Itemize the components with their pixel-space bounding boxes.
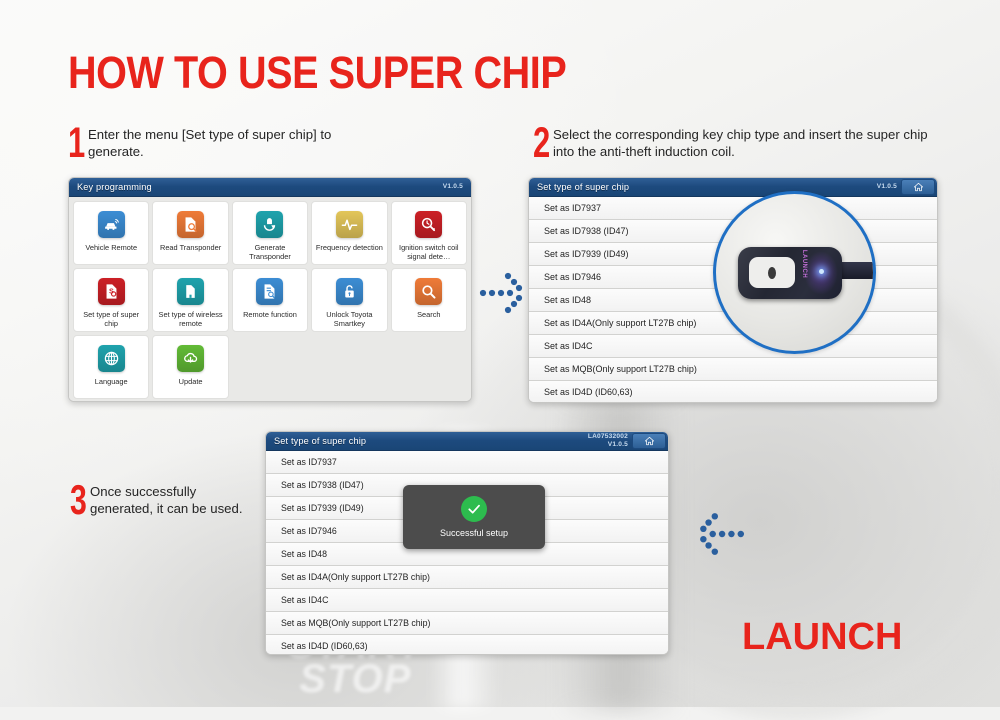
check-glyph xyxy=(466,501,482,517)
menu-item-label: Set type of wireless remote xyxy=(153,310,227,328)
menu-empty-slot xyxy=(391,335,467,399)
menu-empty-slot xyxy=(232,335,308,399)
anti-theft-induction-coil-photo: LAUNCH xyxy=(713,191,876,354)
list-item-label: Set as ID48 xyxy=(281,549,327,559)
menu-item-label: Unlock Toyota Smartkey xyxy=(312,310,386,328)
list-item-label: Set as ID7937 xyxy=(544,203,601,213)
step-1-number: 1 xyxy=(68,126,82,160)
tablet2-title: Set type of super chip xyxy=(537,182,629,192)
menu-item-wireless-remote[interactable]: Set type of wireless remote xyxy=(152,268,228,332)
list-item-label: Set as ID7939 (ID49) xyxy=(544,249,629,259)
tablet3-version-block: LA07532002 V1.0.5 xyxy=(588,433,628,449)
tablet3-home-button[interactable] xyxy=(632,433,666,449)
search-icon xyxy=(415,278,442,305)
step-2: 2 Select the corresponding key chip type… xyxy=(533,126,953,160)
coil-brand-label: LAUNCH xyxy=(801,250,807,278)
menu-item-super-chip[interactable]: S Set type of super chip xyxy=(73,268,149,332)
arrow-step2-to-step3 xyxy=(694,508,746,560)
list-item-label: Set as ID4D (ID60,63) xyxy=(544,387,633,397)
list-item[interactable]: Set as ID7937 xyxy=(529,197,937,220)
menu-item-label: Ignition switch coil signal dete… xyxy=(392,243,466,261)
list-item[interactable]: Set as ID7937 xyxy=(266,451,668,474)
list-item-label: Set as MQB(Only support LT27B chip) xyxy=(281,618,430,628)
super-chip-icon: S xyxy=(98,278,125,305)
menu-item-generate-transponder[interactable]: Generate Transponder xyxy=(232,201,308,265)
success-check-icon xyxy=(461,496,487,522)
list-item[interactable]: Set as ID4C xyxy=(529,335,937,358)
step-2-text: Select the corresponding key chip type a… xyxy=(553,126,949,160)
list-item-label: Set as ID48 xyxy=(544,295,591,305)
list-item-label: Set as ID4A(Only support LT27B chip) xyxy=(544,318,696,328)
menu-item-label: Language xyxy=(93,377,130,386)
arrow-step1-to-step2 xyxy=(478,268,528,318)
list-item[interactable]: Set as MQB(Only support LT27B chip) xyxy=(529,358,937,381)
remote-function-icon xyxy=(256,278,283,305)
tablet3-titlebar: Set type of super chip LA07532002 V1.0.5 xyxy=(266,432,668,451)
list-item-label: Set as ID4A(Only support LT27B chip) xyxy=(281,572,430,582)
tablet3-title: Set type of super chip xyxy=(274,436,366,446)
success-message: Successful setup xyxy=(440,528,508,538)
page-title: HOW TO USE SUPER CHIP xyxy=(68,47,566,99)
list-item-label: Set as MQB(Only support LT27B chip) xyxy=(544,364,697,374)
step-2-number: 2 xyxy=(533,126,547,160)
home-icon xyxy=(913,182,924,192)
tablet1-title: Key programming xyxy=(77,182,152,192)
car-remote-icon xyxy=(98,211,125,238)
tablet-super-chip-success: Set type of super chip LA07532002 V1.0.5… xyxy=(265,431,669,655)
list-item[interactable]: Set as ID4C xyxy=(266,589,668,612)
coil-device-body: LAUNCH xyxy=(738,247,842,299)
list-item[interactable]: Set as ID4D (ID60,63) xyxy=(529,381,937,403)
menu-item-label: Remote function xyxy=(241,310,299,319)
menu-empty-slot xyxy=(311,335,387,399)
tablet3-version: V1.0.5 xyxy=(588,441,628,449)
tablet-key-programming: Key programming V1.0.5 Vehicle Remote Re… xyxy=(68,177,472,402)
tablet3-serial: LA07532002 xyxy=(588,433,628,441)
launch-logo: LAUNCH xyxy=(742,616,902,659)
list-item-label: Set as ID7937 xyxy=(281,457,337,467)
step-3: 3 Once successfully generated, it can be… xyxy=(70,483,270,517)
waveform-icon xyxy=(336,211,363,238)
step-3-text: Once successfully generated, it can be u… xyxy=(90,483,250,517)
list-item-label: Set as ID7946 xyxy=(281,526,337,536)
read-transponder-icon xyxy=(177,211,204,238)
menu-item-car-remote[interactable]: Vehicle Remote xyxy=(73,201,149,265)
menu-item-remote-function[interactable]: Remote function xyxy=(232,268,308,332)
list-item-label: Set as ID7946 xyxy=(544,272,601,282)
list-item[interactable]: Set as ID4A(Only support LT27B chip) xyxy=(266,566,668,589)
coil-led-indicator xyxy=(819,269,824,274)
menu-item-label: Frequency detection xyxy=(314,243,385,252)
menu-item-label: Set type of super chip xyxy=(74,310,148,328)
tablet1-titlebar: Key programming V1.0.5 xyxy=(69,178,471,197)
menu-item-unlock[interactable]: Unlock Toyota Smartkey xyxy=(311,268,387,332)
unlock-icon xyxy=(336,278,363,305)
success-dialog: Successful setup xyxy=(403,485,545,549)
menu-item-globe[interactable]: Language xyxy=(73,335,149,399)
menu-item-label: Search xyxy=(415,310,442,319)
menu-item-read-transponder[interactable]: Read Transponder xyxy=(152,201,228,265)
list-item[interactable]: Set as ID4D (ID60,63) xyxy=(266,635,668,655)
generate-transponder-icon xyxy=(256,211,283,238)
menu-item-label: Read Transponder xyxy=(158,243,223,252)
list-item-label: Set as ID4C xyxy=(281,595,328,605)
menu-item-cloud-download[interactable]: Update xyxy=(152,335,228,399)
menu-item-label: Vehicle Remote xyxy=(83,243,139,252)
cloud-download-icon xyxy=(177,345,204,372)
list-item-label: Set as ID7938 (ID47) xyxy=(544,226,629,236)
key-programming-menu-grid: Vehicle Remote Read Transponder Generate… xyxy=(69,197,471,402)
step-1: 1 Enter the menu [Set type of super chip… xyxy=(68,126,398,160)
globe-icon xyxy=(98,345,125,372)
tablet1-version: V1.0.5 xyxy=(443,183,463,191)
menu-item-ignition-coil[interactable]: Ignition switch coil signal dete… xyxy=(391,201,467,265)
menu-item-waveform[interactable]: Frequency detection xyxy=(311,201,387,265)
home-icon xyxy=(644,436,655,446)
step-1-text: Enter the menu [Set type of super chip] … xyxy=(88,126,388,160)
tablet2-titlebar: Set type of super chip V1.0.5 xyxy=(529,178,937,197)
menu-item-search[interactable]: Search xyxy=(391,268,467,332)
list-item-label: Set as ID4D (ID60,63) xyxy=(281,641,368,651)
tablet-set-type-of-super-chip: Set type of super chip V1.0.5 Set as ID7… xyxy=(528,177,938,403)
menu-item-label: Generate Transponder xyxy=(233,243,307,261)
watermark-line-stop: STOP xyxy=(288,662,423,696)
tablet2-home-button[interactable] xyxy=(901,179,935,195)
coil-chip-slot xyxy=(768,267,776,279)
menu-item-label: Update xyxy=(177,377,205,386)
step-3-number: 3 xyxy=(70,483,84,517)
list-item-label: Set as ID7939 (ID49) xyxy=(281,503,364,513)
ignition-coil-icon xyxy=(415,211,442,238)
list-item-label: Set as ID7938 (ID47) xyxy=(281,480,364,490)
wireless-remote-icon xyxy=(177,278,204,305)
list-item[interactable]: Set as MQB(Only support LT27B chip) xyxy=(266,612,668,635)
list-item-label: Set as ID4C xyxy=(544,341,593,351)
super-chip-type-list[interactable]: Set as ID7937Set as ID7938 (ID47)Set as … xyxy=(266,451,668,655)
tablet2-version: V1.0.5 xyxy=(877,183,897,191)
